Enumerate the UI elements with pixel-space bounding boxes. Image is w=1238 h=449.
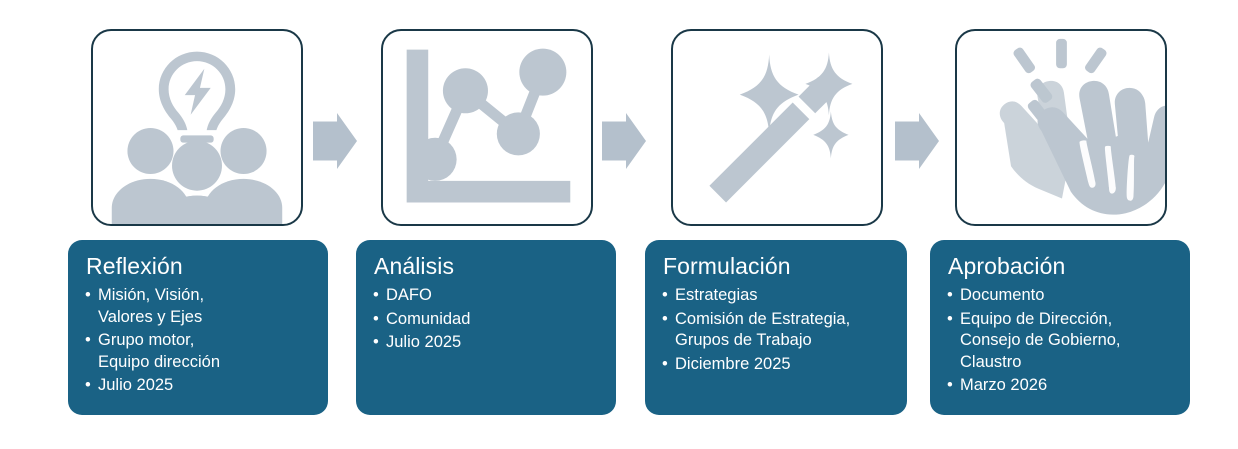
- process-flow-diagram: Reflexión •Misión, Visión, Valores y Eje…: [0, 0, 1238, 449]
- list-item: • Comisión de Estrategia, Grupos de Trab…: [661, 309, 891, 352]
- bullet-marker: •: [373, 309, 379, 331]
- bullet-list-formulacion: • Estrategias • Comisión de Estrategia, …: [661, 285, 891, 375]
- bullet-marker: •: [662, 309, 668, 331]
- connector-arrow-1: [312, 112, 358, 170]
- connector-arrow-3: [894, 112, 940, 170]
- list-item-text: Grupo motor, Equipo dirección: [98, 331, 220, 371]
- list-item: • Diciembre 2025: [661, 354, 891, 376]
- list-item: • Julio 2025: [372, 332, 600, 354]
- stage-title-formulacion: Formulación: [663, 253, 891, 280]
- list-item: • Grupo motor, Equipo dirección: [84, 330, 312, 373]
- list-item-text: Comunidad: [386, 310, 470, 328]
- magic-wand-icon: [673, 31, 881, 224]
- bullet-marker: •: [947, 375, 953, 397]
- list-item-text: Documento: [960, 286, 1044, 304]
- icon-tile-analisis[interactable]: [381, 29, 593, 226]
- bullet-list-reflexion: •Misión, Visión, Valores y Ejes • Grupo …: [84, 285, 312, 397]
- bullet-marker: •: [662, 354, 668, 376]
- list-item: • Documento: [946, 285, 1174, 307]
- clapping-hands-icon: [957, 31, 1165, 224]
- list-item: • Comunidad: [372, 309, 600, 331]
- text-card-reflexion[interactable]: Reflexión •Misión, Visión, Valores y Eje…: [68, 240, 328, 415]
- arrow-right-icon: [894, 112, 940, 170]
- text-card-analisis[interactable]: Análisis •DAFO • Comunidad • Julio 2025: [356, 240, 616, 415]
- list-item: •DAFO: [372, 285, 600, 307]
- list-item: • Estrategias: [661, 285, 891, 307]
- bullet-marker: •: [85, 375, 91, 397]
- list-item: • Marzo 2026: [946, 375, 1174, 397]
- list-item: •Misión, Visión, Valores y Ejes: [84, 285, 312, 328]
- list-item-text: Equipo de Dirección, Consejo de Gobierno…: [960, 310, 1121, 371]
- list-item-text: DAFO: [386, 286, 432, 304]
- bullet-marker: •: [947, 285, 953, 307]
- list-item: • Equipo de Dirección, Consejo de Gobier…: [946, 309, 1174, 374]
- bullet-marker: •: [85, 330, 91, 352]
- icon-tile-formulacion[interactable]: [671, 29, 883, 226]
- list-item-text: Marzo 2026: [960, 376, 1047, 394]
- bullet-marker: •: [662, 285, 668, 307]
- bullet-list-analisis: •DAFO • Comunidad • Julio 2025: [372, 285, 600, 354]
- people-lightbulb-icon: [93, 31, 301, 224]
- list-item-text: Julio 2025: [98, 376, 173, 394]
- icon-tile-aprobacion[interactable]: [955, 29, 1167, 226]
- bullet-marker: •: [373, 332, 379, 354]
- arrow-right-icon: [601, 112, 647, 170]
- stage-title-reflexion: Reflexión: [86, 253, 312, 280]
- line-chart-icon: [383, 31, 591, 224]
- bullet-marker: •: [947, 309, 953, 331]
- list-item-text: Diciembre 2025: [675, 355, 791, 373]
- stage-title-aprobacion: Aprobación: [948, 253, 1174, 280]
- list-item-text: Estrategias: [675, 286, 758, 304]
- bullet-marker: •: [373, 285, 379, 307]
- list-item-text: Julio 2025: [386, 333, 461, 351]
- list-item-text: Comisión de Estrategia, Grupos de Trabaj…: [675, 310, 850, 350]
- bullet-list-aprobacion: • Documento • Equipo de Dirección, Conse…: [946, 285, 1174, 397]
- list-item-text: Misión, Visión, Valores y Ejes: [98, 286, 204, 326]
- connector-arrow-2: [601, 112, 647, 170]
- icon-tile-reflexion[interactable]: [91, 29, 303, 226]
- text-card-formulacion[interactable]: Formulación • Estrategias • Comisión de …: [645, 240, 907, 415]
- stage-title-analisis: Análisis: [374, 253, 600, 280]
- arrow-right-icon: [312, 112, 358, 170]
- bullet-marker: •: [85, 285, 91, 307]
- list-item: • Julio 2025: [84, 375, 312, 397]
- text-card-aprobacion[interactable]: Aprobación • Documento • Equipo de Direc…: [930, 240, 1190, 415]
